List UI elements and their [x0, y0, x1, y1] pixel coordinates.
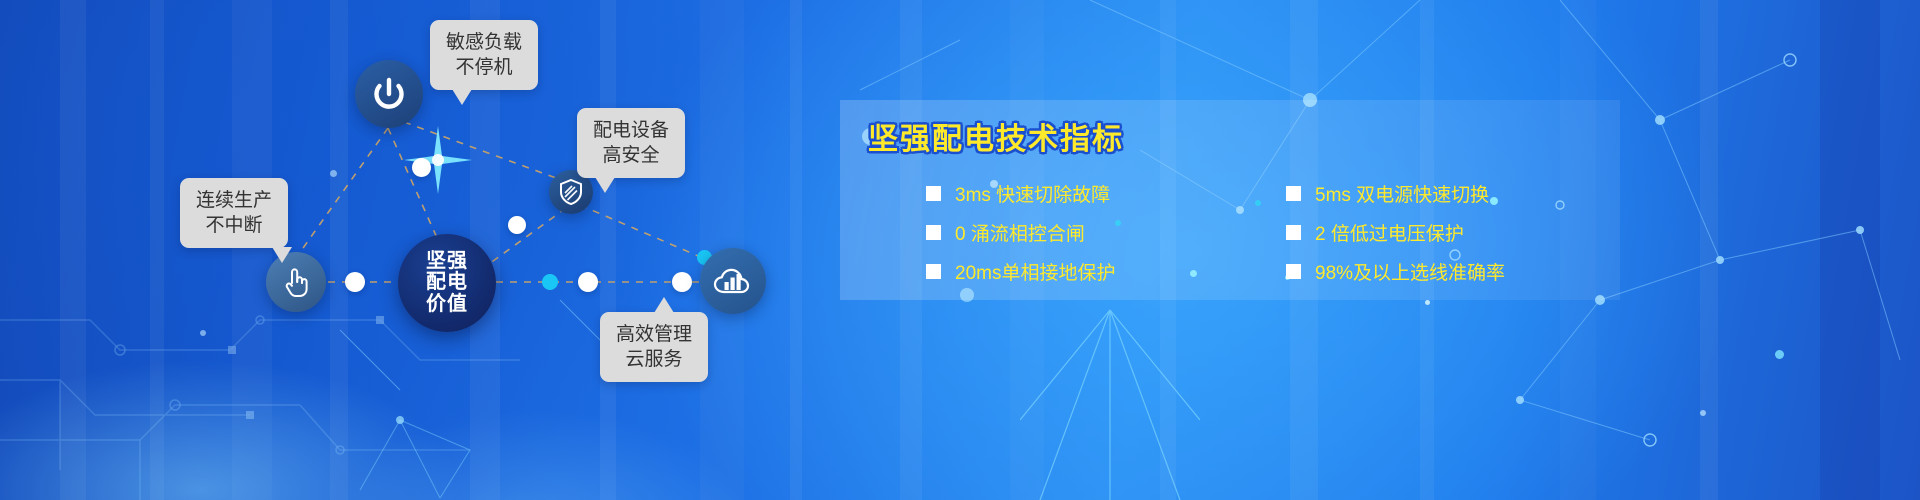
- bubble-line2: 不停机: [446, 55, 522, 80]
- spec-item[interactable]: 5ms 双电源快速切换: [1286, 180, 1606, 207]
- spec-panel: 坚强配电技术指标 3ms 快速切除故障 5ms 双电源快速切换 0 涌流相控合闸…: [840, 100, 1620, 300]
- panel-title: 坚强配电技术指标: [868, 114, 1124, 158]
- bullet-square-icon: [926, 186, 941, 201]
- bullet-square-icon: [926, 264, 941, 279]
- spec-item[interactable]: 98%及以上选线准确率: [1286, 258, 1606, 285]
- spec-text: 0 涌流相控合闸: [955, 219, 1085, 246]
- cloud-chart-icon: [713, 265, 753, 297]
- spec-item[interactable]: 20ms单相接地保护: [926, 258, 1286, 285]
- spec-text: 5ms 双电源快速切换: [1315, 180, 1489, 207]
- bubble-line2: 高安全: [593, 143, 669, 168]
- spec-list: 3ms 快速切除故障 5ms 双电源快速切换 0 涌流相控合闸 2 倍低过电压保…: [926, 174, 1606, 291]
- bubble-line2: 不中断: [196, 213, 272, 238]
- bullet-square-icon: [926, 225, 941, 240]
- hand-touch-icon: [280, 265, 312, 299]
- spec-item[interactable]: 0 涌流相控合闸: [926, 219, 1286, 246]
- waypoint-dot: [672, 272, 692, 292]
- promo-banner: 坚强 配电 价值 敏感负载 不停机 配电设备 高安全 连续生产 不中断 高效管理…: [0, 0, 1920, 500]
- waypoint-dot: [345, 272, 365, 292]
- bubble-equipment-safety[interactable]: 配电设备 高安全: [577, 108, 685, 178]
- bubble-line1: 高效管理: [616, 322, 692, 347]
- node-power-button[interactable]: [355, 60, 423, 128]
- bullet-square-icon: [1286, 264, 1301, 279]
- bubble-sensitive-load[interactable]: 敏感负载 不停机: [430, 20, 538, 90]
- spec-text: 20ms单相接地保护: [955, 258, 1115, 285]
- bubble-tail: [452, 89, 472, 105]
- bullet-square-icon: [1286, 186, 1301, 201]
- center-label-line3: 价值: [426, 294, 468, 316]
- node-cloud-chart[interactable]: [700, 248, 766, 314]
- waypoint-dot: [578, 272, 598, 292]
- bubble-continuous-production[interactable]: 连续生产 不中断: [180, 178, 288, 248]
- bubble-line1: 敏感负载: [446, 30, 522, 55]
- shield-icon: [559, 179, 583, 205]
- power-button-icon: [370, 75, 408, 113]
- center-label-line1: 坚强: [426, 251, 468, 273]
- center-label-line2: 配电: [426, 272, 468, 294]
- spec-text: 2 倍低过电压保护: [1315, 219, 1464, 246]
- waypoint-dot: [508, 216, 526, 234]
- waypoint-dot-cyan: [542, 274, 558, 290]
- spec-text: 98%及以上选线准确率: [1315, 258, 1505, 285]
- bubble-cloud-service[interactable]: 高效管理 云服务: [600, 312, 708, 382]
- waypoint-dot: [412, 158, 431, 177]
- bubble-line2: 云服务: [616, 347, 692, 372]
- bubble-line1: 连续生产: [196, 188, 272, 213]
- bubble-tail: [654, 297, 674, 313]
- bubble-tail: [595, 177, 615, 193]
- spec-item[interactable]: 2 倍低过电压保护: [1286, 219, 1606, 246]
- bullet-square-icon: [1286, 225, 1301, 240]
- spec-item[interactable]: 3ms 快速切除故障: [926, 180, 1286, 207]
- bubble-line1: 配电设备: [593, 118, 669, 143]
- bubble-tail: [272, 247, 292, 263]
- spec-text: 3ms 快速切除故障: [955, 180, 1110, 207]
- diagram-center-node[interactable]: 坚强 配电 价值: [398, 234, 496, 332]
